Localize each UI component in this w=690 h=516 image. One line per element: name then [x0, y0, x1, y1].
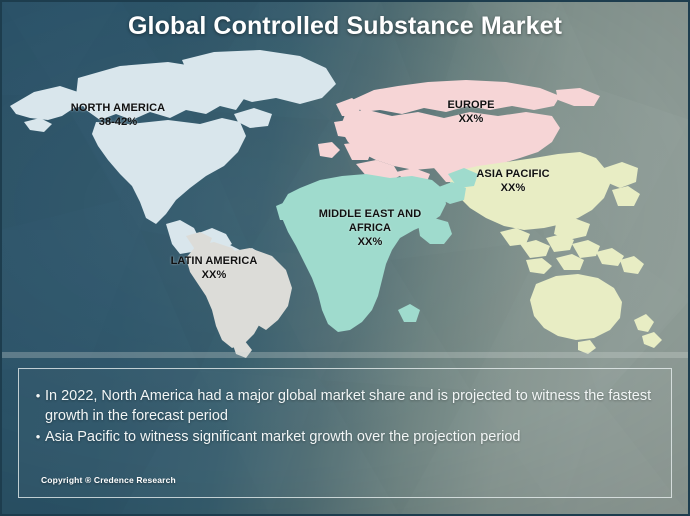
list-item-text: Asia Pacific to witness significant mark… [45, 428, 657, 448]
copyright-notice: Copyright ® Credence Research [41, 475, 176, 485]
region-label-europe: EUROPE XX% [418, 99, 524, 127]
insights-bullet-list: • In 2022, North America had a major glo… [31, 387, 657, 450]
map-region-north-america [10, 50, 336, 262]
page-title: Global Controlled Substance Market [0, 12, 690, 41]
list-item-text: In 2022, North America had a major globa… [45, 387, 657, 426]
bullet-marker-icon: • [31, 387, 45, 405]
region-label-asia-pacific: ASIA PACIFIC XX% [448, 168, 578, 196]
list-item: • In 2022, North America had a major glo… [31, 387, 657, 426]
map-region-latin-america [186, 232, 292, 358]
bullet-marker-icon: • [31, 428, 45, 446]
region-label-middle-east-africa: MIDDLE EAST AND AFRICA XX% [300, 208, 440, 249]
list-item: • Asia Pacific to witness significant ma… [31, 428, 657, 448]
region-label-north-america: NORTH AMERICA 38-42% [48, 102, 188, 130]
world-map [0, 48, 690, 358]
map-region-antarctica [0, 352, 690, 358]
insights-callout-box: • In 2022, North America had a major glo… [18, 368, 672, 498]
infographic-root: Global Controlled Substance Market [0, 0, 690, 516]
region-label-latin-america: LATIN AMERICA XX% [148, 255, 280, 283]
